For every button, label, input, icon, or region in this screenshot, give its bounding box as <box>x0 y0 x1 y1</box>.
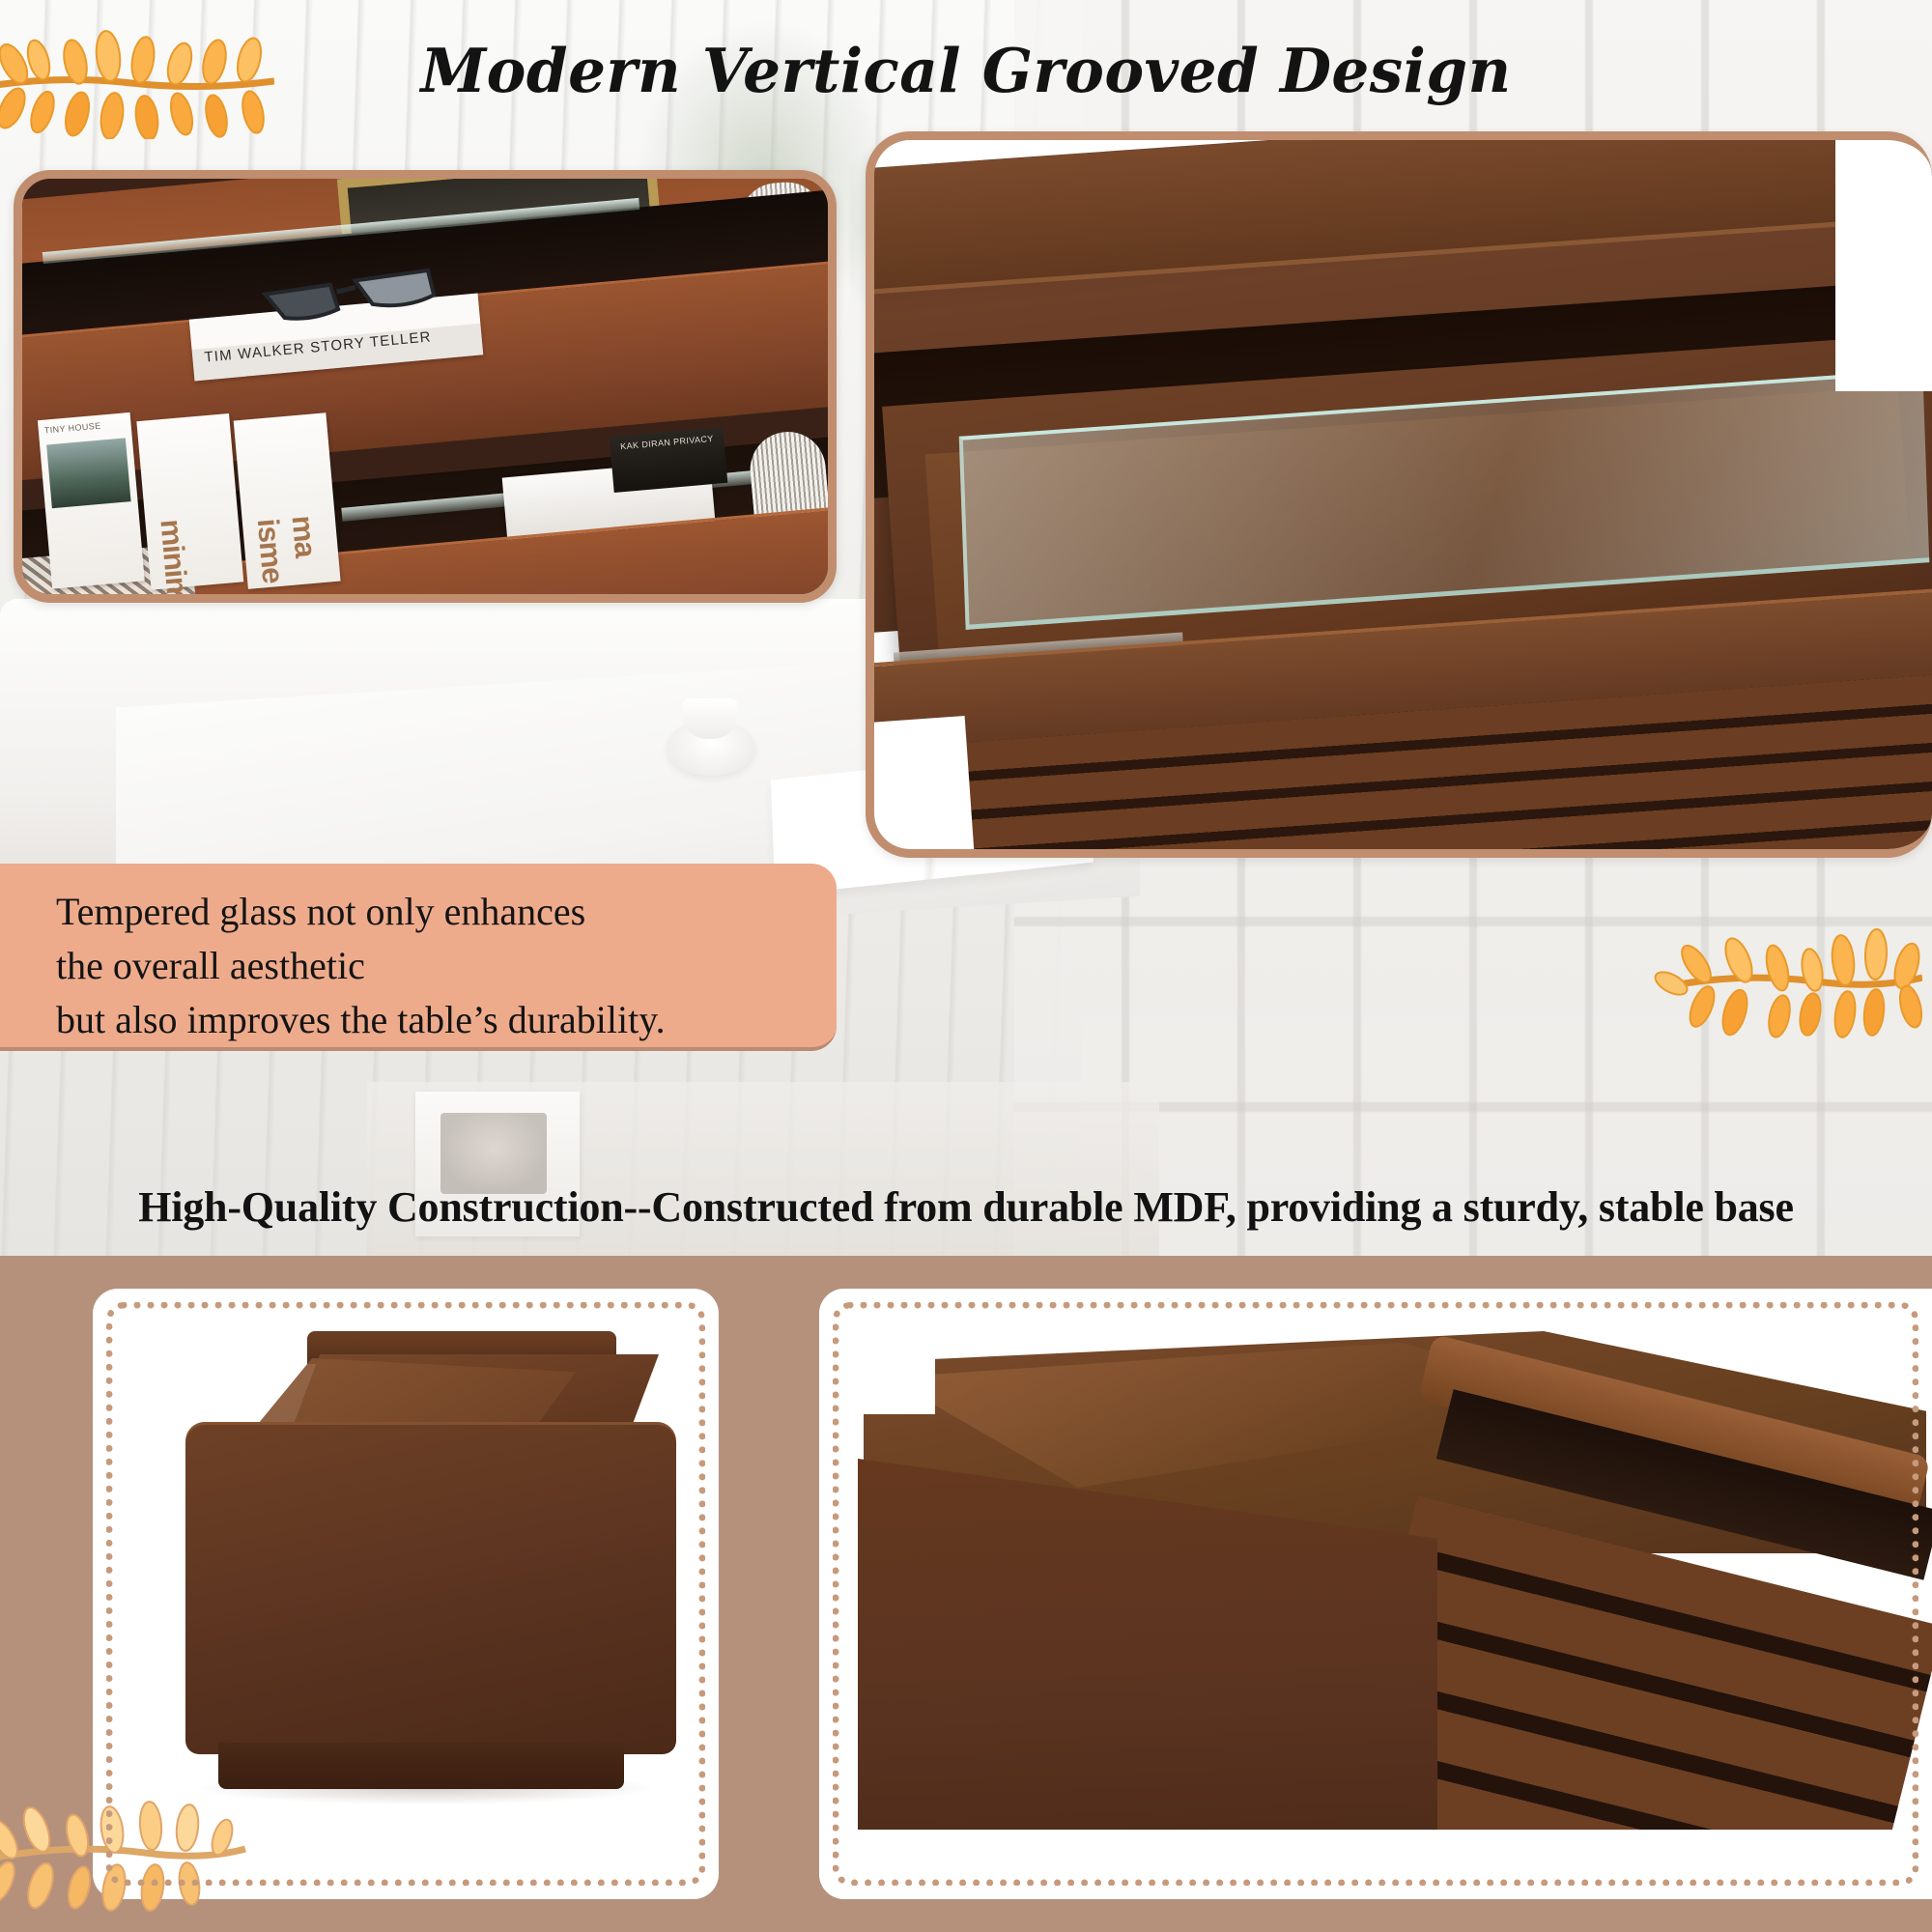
magazine-item: minimi <box>136 413 243 590</box>
mid-banner: High-Quality Construction--Constructed f… <box>0 1171 1932 1244</box>
callout-tempered-glass: Tempered glass not only enhances the ove… <box>0 864 837 1051</box>
photo-white-area-bottom <box>819 1830 1932 1899</box>
table-front-panel <box>185 1422 676 1754</box>
magazine-label: TINY HOUSE <box>43 418 126 435</box>
magazine-item: ma isme <box>234 412 341 589</box>
callout-line-3: but also improves the table’s durability… <box>56 993 837 1047</box>
magazine-label: ma isme <box>250 514 326 588</box>
magazine-rack-props: TINY HOUSE minimi ma isme <box>32 393 366 603</box>
mid-banner-text: High-Quality Construction--Constructed f… <box>138 1183 1794 1231</box>
photo-card-corner-detail <box>819 1289 1932 1899</box>
table-shadow <box>199 1772 653 1804</box>
magazine-cover-art <box>46 438 130 508</box>
photo-white-area-right <box>1835 140 1932 391</box>
magazine-label: minimi <box>153 518 195 603</box>
page-title: Modern Vertical Grooved Design <box>29 27 1903 114</box>
photo-card-drawer-detail: TIM WALKER STORY TELLER KAK DIRAN PRIVAC… <box>14 170 837 603</box>
photo-white-area-corner <box>819 1289 935 1414</box>
photo-card-front-view <box>93 1289 719 1899</box>
photo-white-area-right <box>1884 1289 1932 1385</box>
photo-white-area-left <box>866 716 977 858</box>
infographic-page: Modern Vertical Grooved Design TIM WALKE… <box>0 0 1932 1932</box>
bottom-section <box>0 1256 1932 1932</box>
photo-card-open-drawer <box>866 131 1932 858</box>
magazine-item: TINY HOUSE <box>38 412 145 589</box>
coffee-cup-icon <box>667 720 755 776</box>
dark-box-prop: KAK DIRAN PRIVACY <box>610 427 728 493</box>
callout-line-1: Tempered glass not only enhances <box>56 885 837 939</box>
callout-line-2: the overall aesthetic <box>56 939 837 993</box>
